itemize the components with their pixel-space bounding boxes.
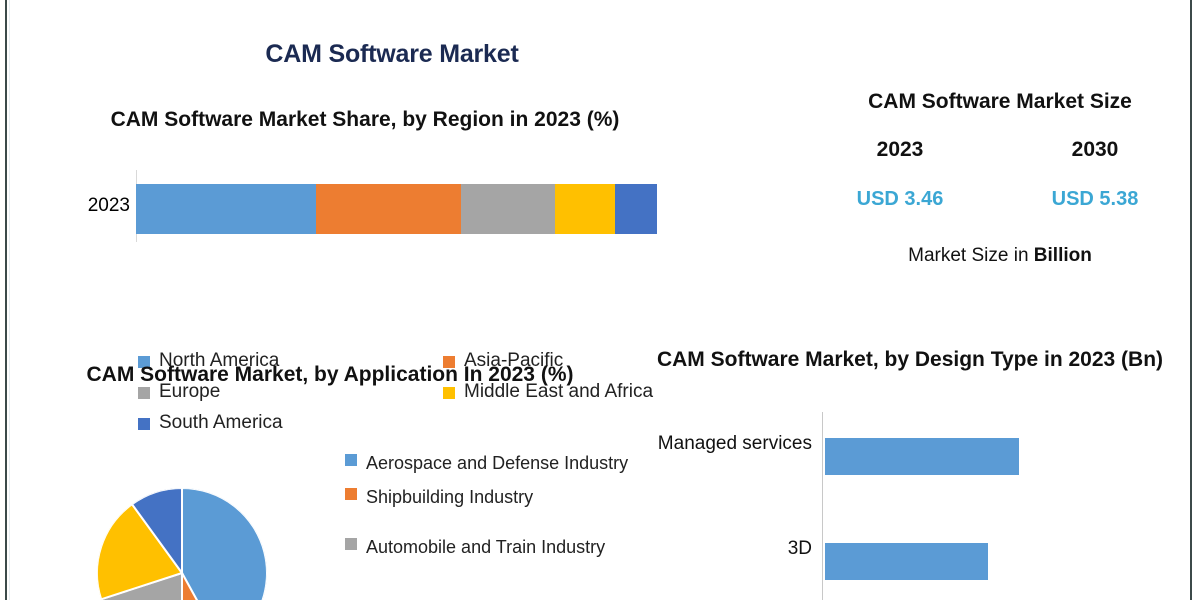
- design-type-label-managed-services: Managed services: [620, 433, 812, 455]
- legend-label: Shipbuilding Industry: [366, 484, 533, 510]
- pie-slices: [97, 488, 267, 600]
- region-category-label: 2023: [55, 195, 130, 217]
- region-segment-middle-east-africa: [555, 184, 615, 234]
- region-segment-south-america: [615, 184, 657, 234]
- legend-item-aerospace-and-defense-industry: Aerospace and Defense Industry: [345, 450, 645, 476]
- market-size-value-2030: USD 5.38: [1020, 188, 1170, 211]
- market-size-unit-note: Market Size in Billion: [810, 245, 1190, 267]
- market-size-value-2023: USD 3.46: [825, 188, 975, 211]
- design-type-label-3d: 3D: [620, 538, 812, 560]
- application-legend: Aerospace and Defense Industry Shipbuild…: [345, 450, 645, 568]
- market-size-unit-strong: Billion: [1034, 245, 1092, 266]
- legend-item-automobile-and-train-industry: Automobile and Train Industry: [345, 534, 645, 560]
- region-segment-north-america: [136, 184, 316, 234]
- legend-swatch-icon: [345, 488, 357, 500]
- pie-slice: [182, 488, 267, 600]
- infographic-canvas: CAM Software Market CAM Software Market …: [0, 0, 1200, 600]
- page-title: CAM Software Market: [232, 40, 552, 69]
- region-chart-title: CAM Software Market Share, by Region in …: [80, 105, 650, 135]
- legend-swatch-icon: [345, 454, 357, 466]
- market-size-unit-prefix: Market Size in: [908, 245, 1034, 266]
- legend-label: Aerospace and Defense Industry: [366, 450, 628, 476]
- design-type-bar-managed-services: [825, 438, 1019, 475]
- design-type-bar-3d: [825, 543, 988, 580]
- market-size-title: CAM Software Market Size: [810, 90, 1190, 114]
- region-segment-asia-pacific: [316, 184, 461, 234]
- legend-item-shipbuilding-industry: Shipbuilding Industry: [345, 484, 645, 510]
- application-panel: CAM Software Market, by Application In 2…: [20, 360, 640, 600]
- application-chart-title: CAM Software Market, by Application In 2…: [80, 360, 580, 390]
- market-size-panel: CAM Software Market Size 2023 2030 USD 3…: [810, 90, 1190, 290]
- pie-svg: [97, 488, 267, 600]
- application-pie-chart: [97, 488, 267, 600]
- region-segment-europe: [461, 184, 556, 234]
- region-share-panel: CAM Software Market Share, by Region in …: [10, 105, 710, 340]
- design-type-axis-line: [822, 412, 823, 600]
- design-type-chart-title: CAM Software Market, by Design Type in 2…: [640, 345, 1180, 375]
- market-size-year-2030: 2030: [1020, 138, 1170, 162]
- region-stacked-bar: [136, 184, 657, 234]
- left-border-line: [5, 0, 7, 600]
- design-type-panel: CAM Software Market, by Design Type in 2…: [620, 340, 1200, 600]
- legend-swatch-icon: [345, 538, 357, 550]
- legend-label: Automobile and Train Industry: [366, 534, 605, 560]
- market-size-year-2023: 2023: [825, 138, 975, 162]
